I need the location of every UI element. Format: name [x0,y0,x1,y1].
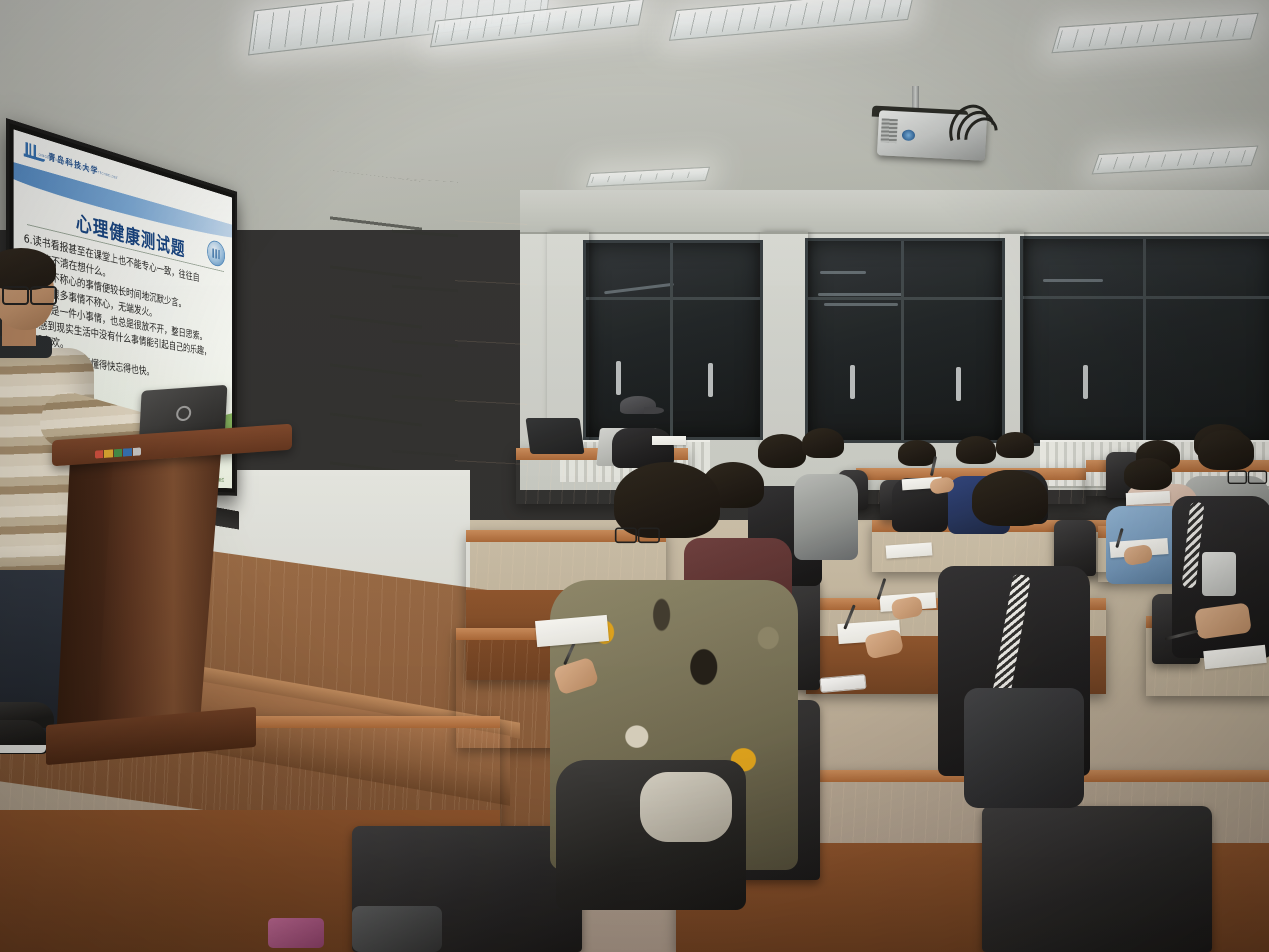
ceiling-light-panel [1092,146,1259,175]
indicator-blue [123,448,131,457]
projector-vent [881,118,898,143]
back-wall-header [520,190,1269,234]
window-reflection [604,283,674,295]
operator-monitor [525,418,584,454]
eyeglasses-icon [1228,470,1267,482]
window-reflection [818,293,904,296]
ceiling-light-panel [586,167,710,188]
window-handle [708,363,713,397]
backpack [964,688,1084,808]
curtain [760,232,808,447]
bag-on-shelf [352,906,442,952]
window-handle [850,365,855,399]
ceiling-light-panel [1051,13,1258,54]
eyeglasses-icon [615,528,659,542]
window-reflection [820,271,866,274]
window-transom [808,297,1002,300]
window-handle [1083,365,1088,399]
window-reflection [824,303,898,306]
window-transom [1023,296,1269,299]
indicator-red [95,450,103,459]
sleeve-patch [1202,552,1236,596]
person-operator [610,396,680,462]
laptop-logo-icon [176,405,192,421]
curtain [547,232,589,447]
student-knee-patch [640,772,732,842]
window-handle [616,361,621,395]
ceiling-light-panel [669,0,915,41]
projector-lens [902,129,916,141]
window [1020,236,1269,446]
answer-sheet[interactable] [1126,491,1171,505]
curtain [1000,232,1024,447]
presenter-shoe [0,720,48,754]
presenter-hair [0,248,56,290]
classroom-scene: 青岛科技大学 QINGDAO UNIVERSITY OF SCIENCE & T… [0,0,1269,952]
wall-column [392,178,458,513]
window-transom [586,297,760,300]
eyeglasses-icon [2,286,56,303]
student-head [978,496,1044,572]
window [805,238,1005,443]
bag-on-shelf [268,918,324,948]
window-handle [956,367,961,401]
indicator-white [133,447,141,456]
chair[interactable] [982,806,1212,952]
indicator-amber [104,449,112,458]
logo-mark-icon [24,141,45,162]
paper [652,436,686,445]
window-reflection [1043,279,1103,282]
indicator-green [114,449,122,458]
